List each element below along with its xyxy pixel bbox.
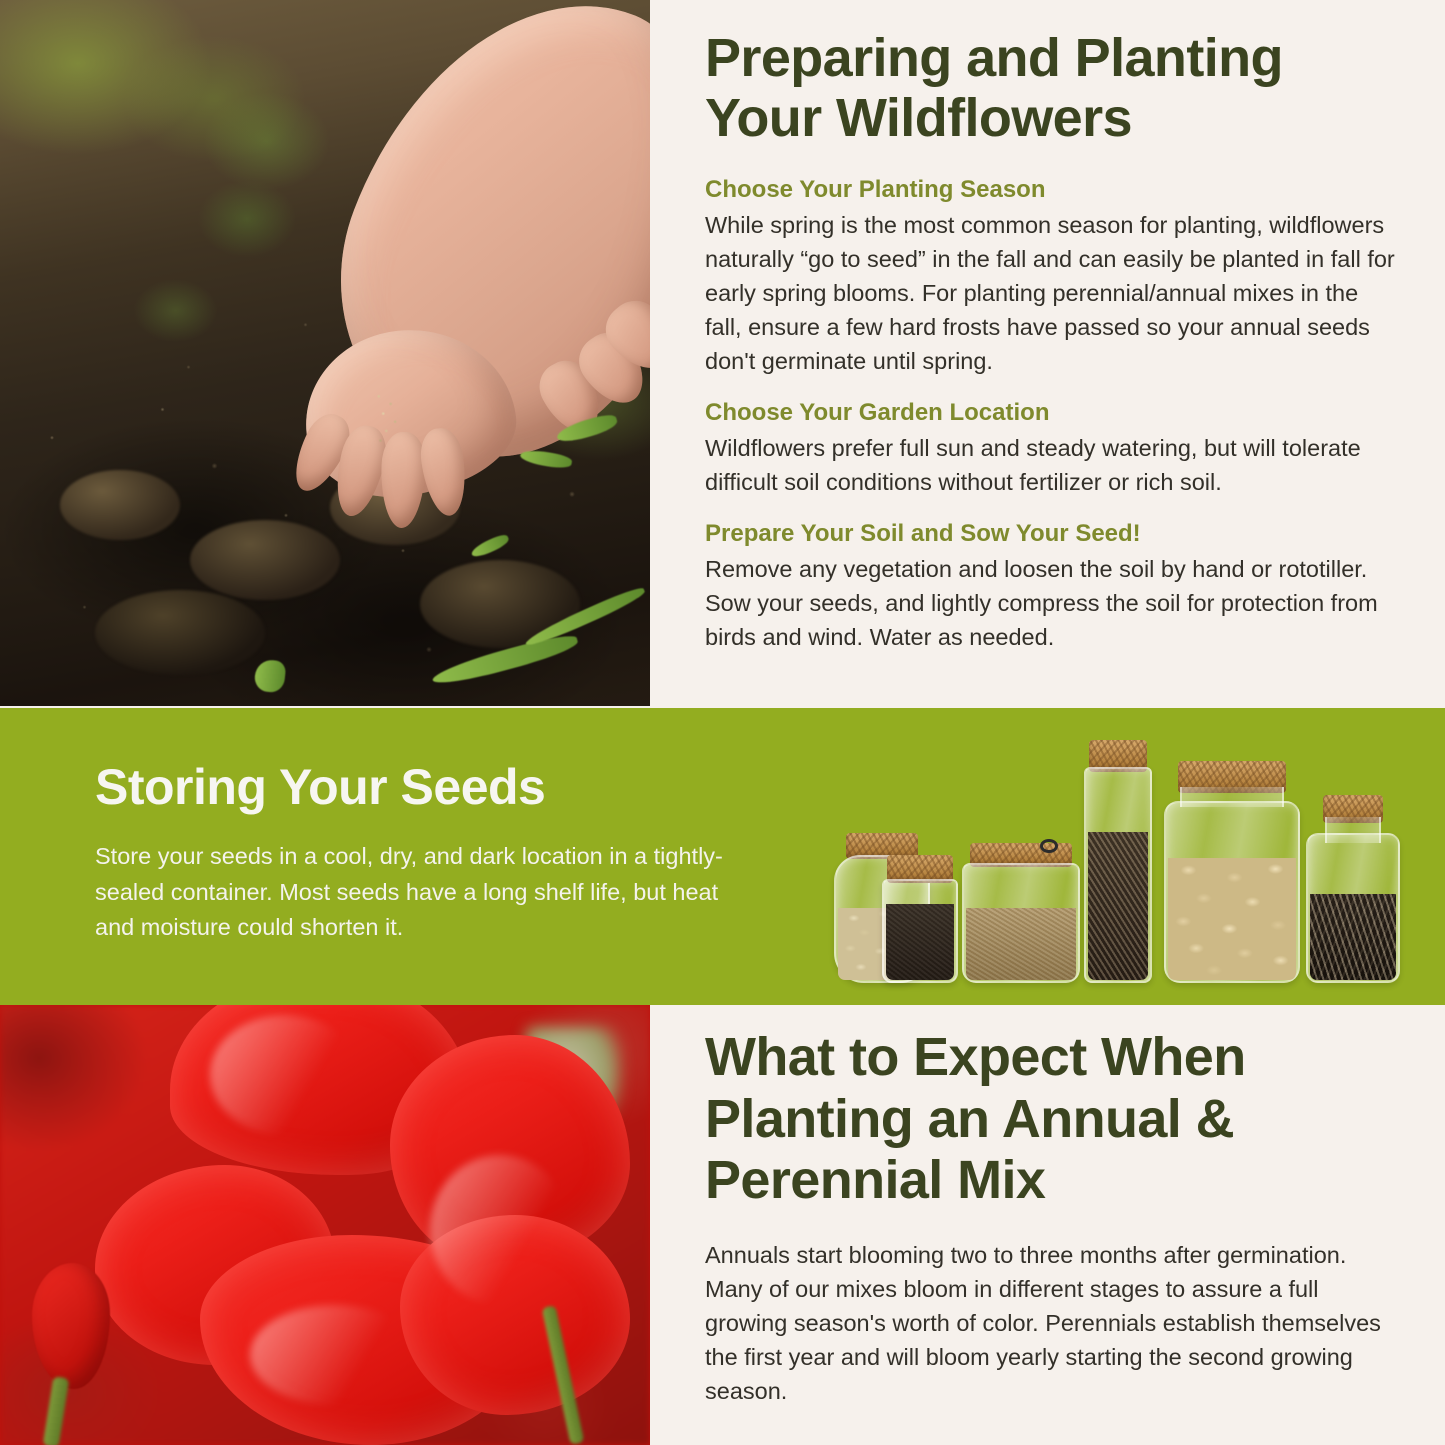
jar-sunflower-seeds	[1306, 795, 1400, 983]
band-text-column: Storing Your Seeds Store your seeds in a…	[95, 760, 735, 946]
petal-highlight	[210, 1015, 360, 1135]
section1-text-column: Preparing and Planting Your Wildflowers …	[705, 0, 1395, 706]
section-preparing-and-planting: Preparing and Planting Your Wildflowers …	[0, 0, 1445, 708]
body-choose-planting-season: While spring is the most common season f…	[705, 208, 1395, 378]
band-title-storing-your-seeds: Storing Your Seeds	[95, 760, 735, 815]
jar-fine-tan-seeds	[962, 843, 1080, 983]
soil-clod	[190, 520, 340, 600]
section3-text-column: What to Expect When Planting an Annual &…	[705, 1005, 1395, 1445]
subheading-prepare-soil-sow-seed: Prepare Your Soil and Sow Your Seed!	[705, 519, 1395, 550]
jar-contents-sunflower-seeds	[1310, 894, 1396, 980]
jar-contents-pumpkin-seeds	[1168, 858, 1296, 980]
band-body-storing-your-seeds: Store your seeds in a cool, dry, and dar…	[95, 839, 735, 946]
block-prepare-soil: Prepare Your Soil and Sow Your Seed! Rem…	[705, 519, 1395, 654]
petal-highlight	[250, 1305, 420, 1405]
petal-highlight	[430, 1155, 570, 1305]
soil-clod	[60, 470, 180, 540]
glass-jars-of-seeds-with-cork-lids-photo	[820, 708, 1445, 1005]
jar-contents-fine-tan-seeds	[966, 908, 1076, 980]
jar-contents-flax-seeds	[1088, 832, 1148, 980]
red-poppy-flower-closeup-photo	[0, 1005, 650, 1445]
section-storing-your-seeds: Storing Your Seeds Store your seeds in a…	[0, 708, 1445, 1005]
body-choose-garden-location: Wildflowers prefer full sun and steady w…	[705, 431, 1395, 499]
subheading-choose-planting-season: Choose Your Planting Season	[705, 175, 1395, 206]
block-planting-season: Choose Your Planting Season While spring…	[705, 175, 1395, 378]
jar-black-seeds	[882, 855, 958, 983]
jar-wire-loop	[1040, 839, 1058, 853]
jar-tall-flax-seeds	[1084, 740, 1152, 983]
block-garden-location: Choose Your Garden Location Wildflowers …	[705, 398, 1395, 499]
jar-pumpkin-seeds	[1164, 761, 1300, 983]
subheading-choose-garden-location: Choose Your Garden Location	[705, 398, 1395, 429]
jar-contents-black-seeds	[886, 904, 954, 980]
poppy-stamen-center	[232, 1145, 410, 1293]
body-what-to-expect: Annuals start blooming two to three mont…	[705, 1238, 1395, 1408]
infographic-page: Preparing and Planting Your Wildflowers …	[0, 0, 1445, 1445]
section-what-to-expect: What to Expect When Planting an Annual &…	[0, 1005, 1445, 1445]
falling-seeds	[372, 392, 406, 446]
hand-sowing-seeds-in-soil-photo	[0, 0, 650, 706]
soil-clod	[95, 590, 265, 675]
section-title-what-to-expect: What to Expect When Planting an Annual &…	[705, 1027, 1395, 1212]
body-prepare-soil-sow-seed: Remove any vegetation and loosen the soi…	[705, 552, 1395, 654]
page-title: Preparing and Planting Your Wildflowers	[705, 28, 1395, 149]
